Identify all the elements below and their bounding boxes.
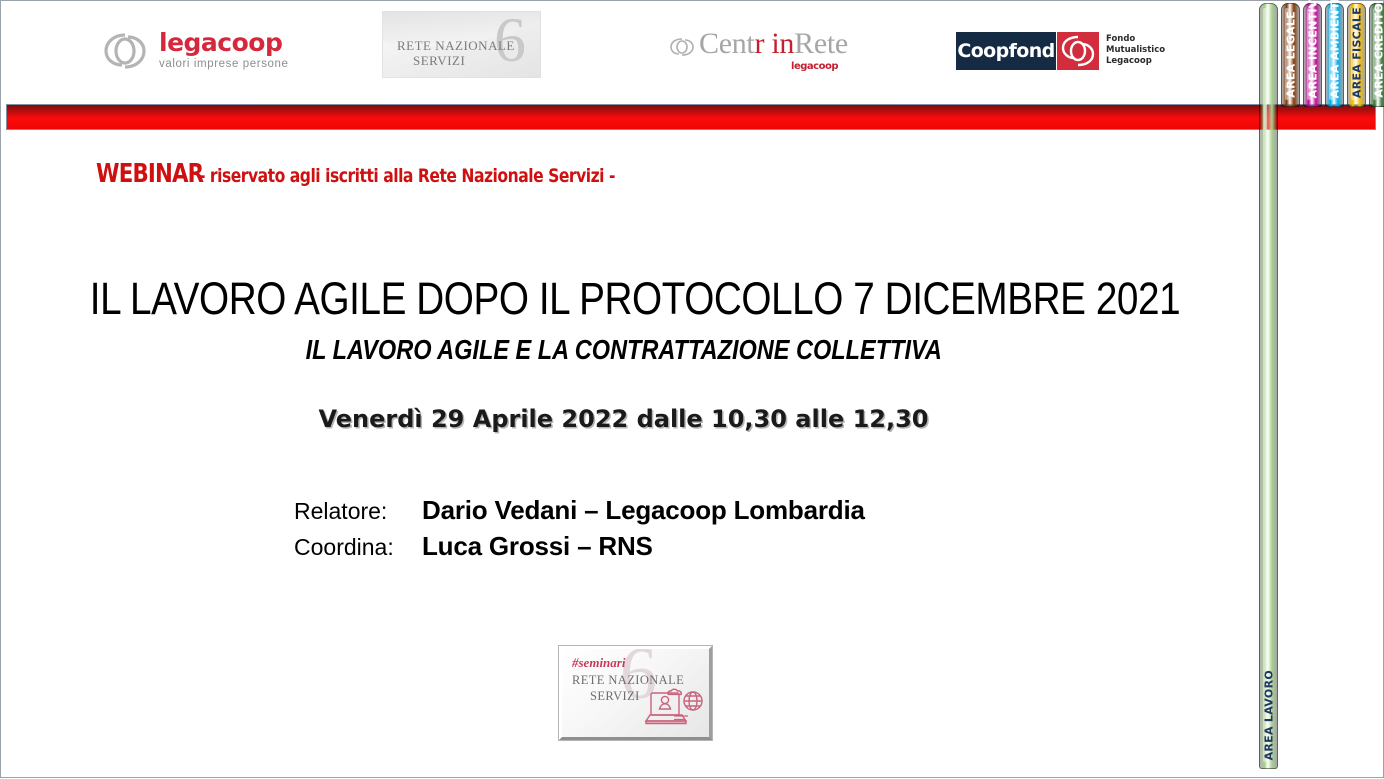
- speaker-row: Relatore: Dario Vedani – Legacoop Lombar…: [294, 495, 865, 531]
- tab-area-credito[interactable]: AREA CREDITO: [1369, 3, 1384, 107]
- page-subtitle-text: IL LAVORO AGILE E LA CONTRATTAZIONE COLL…: [305, 334, 941, 366]
- coopfond-descriptor: Fondo Mutualistico Legacoop: [1106, 34, 1165, 67]
- page-title-text: IL LAVORO AGILE DOPO IL PROTOCOLLO 7 DIC…: [90, 273, 1180, 325]
- cir-part3: Rete: [794, 27, 848, 60]
- cir-part1: Cent: [699, 27, 754, 60]
- red-divider-band: [6, 104, 1376, 130]
- rete-nazionale-servizi-logo: 6 RETE NAZIONALE SERVIZI: [382, 11, 541, 78]
- coopfond-desc-line3: Legacoop: [1106, 56, 1165, 67]
- page-title: IL LAVORO AGILE DOPO IL PROTOCOLLO 7 DIC…: [1, 273, 1246, 325]
- legacoop-wordmark: legacoop: [159, 29, 282, 57]
- speaker-name: Luca Grossi – RNS: [422, 531, 653, 562]
- tab-area-lavoro[interactable]: AREA LAVORO: [1259, 3, 1278, 769]
- page-subtitle: IL LAVORO AGILE E LA CONTRATTAZIONE COLL…: [1, 334, 1246, 366]
- centrinrete-wordmark: Centr inRete: [699, 27, 848, 61]
- legacoop-logo: legacoop valori imprese persone: [101, 29, 316, 77]
- coopfond-logo: Coopfond Fondo Mutualistico Legacoop: [956, 32, 1156, 70]
- webinar-heading: WEBINAR- riservato agli iscritti alla Re…: [96, 159, 706, 189]
- tab-label: AREA LAVORO: [1262, 670, 1275, 760]
- centrinrete-logo: Centr inRete legacoop: [669, 31, 854, 79]
- legacoop-swirl-icon: [101, 31, 149, 71]
- speaker-row: Coordina: Luca Grossi – RNS: [294, 531, 865, 567]
- speaker-role-label: Coordina:: [294, 534, 422, 561]
- seminari-hashtag: #seminari: [572, 655, 625, 671]
- seminari-line1: RETE NAZIONALE: [572, 673, 684, 688]
- tab-label: AREA INCENTIVI: [1306, 0, 1319, 98]
- seminari-badge: 6 #seminari RETE NAZIONALE SERVIZI: [559, 646, 712, 740]
- seminari-line2: SERVIZI: [590, 689, 640, 704]
- webinar-note: - riservato agli iscritti alla Rete Nazi…: [199, 165, 615, 187]
- coopfond-wordmark: Coopfond: [957, 40, 1054, 62]
- speaker-role-label: Relatore:: [294, 498, 422, 525]
- event-date-line: Venerdì 29 Aprile 2022 dalle 10,30 alle …: [1, 405, 1246, 433]
- tab-label: AREA AMBIENTE: [1328, 0, 1341, 98]
- cir-part-accent: r in: [754, 27, 794, 60]
- coopfond-swirl-icon: [1057, 32, 1099, 70]
- coopfond-desc-line1: Fondo: [1106, 34, 1165, 45]
- coopfond-wordmark-box: Coopfond: [956, 32, 1056, 70]
- tab-area-incentivi[interactable]: AREA INCENTIVI: [1303, 3, 1322, 107]
- tab-label: AREA LEGALE: [1284, 11, 1297, 98]
- webinar-tag: WEBINAR: [96, 159, 203, 189]
- speaker-list: Relatore: Dario Vedani – Legacoop Lombar…: [294, 495, 865, 567]
- tab-area-ambiente[interactable]: AREA AMBIENTE: [1325, 3, 1344, 107]
- tab-glint: [1263, 8, 1267, 762]
- area-tab-rail: AREA LAVORO AREA LEGALE AREA INCENTIVI A…: [1250, 1, 1384, 779]
- speaker-name: Dario Vedani – Legacoop Lombardia: [422, 495, 865, 526]
- webinar-laptop-icon: [643, 687, 705, 733]
- coopfond-mark-box: [1057, 32, 1099, 70]
- tab-label: AREA CREDITO: [1372, 3, 1384, 98]
- coopfond-desc-line2: Mutualistico: [1106, 45, 1165, 56]
- tab-area-fiscale[interactable]: AREA FISCALE: [1347, 3, 1366, 107]
- header-logo-strip: legacoop valori imprese persone 6 RETE N…: [1, 1, 1245, 97]
- tab-area-legale[interactable]: AREA LEGALE: [1281, 3, 1300, 107]
- legacoop-tagline: valori imprese persone: [159, 58, 289, 70]
- centrinrete-swirl-icon: [669, 37, 695, 57]
- rns-line2: SERVIZI: [413, 53, 465, 69]
- rns-line1: RETE NAZIONALE: [397, 38, 515, 54]
- centrinrete-sub: legacoop: [791, 61, 838, 72]
- tab-label: AREA FISCALE: [1350, 7, 1363, 98]
